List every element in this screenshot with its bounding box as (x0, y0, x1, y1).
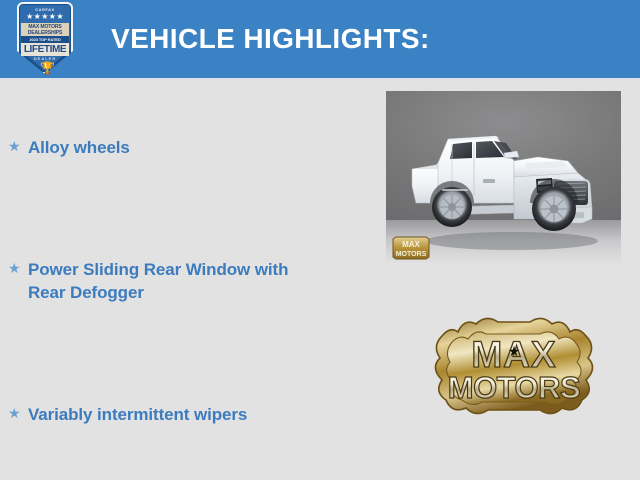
svg-text:MAX: MAX (402, 240, 420, 249)
highlight-label: Power Sliding Rear Window with Rear Defo… (28, 258, 328, 304)
vehicle-photo: MAX MOTORS White GMC Sierra Denali crew … (386, 91, 621, 266)
dealer-logo-alt: Max Motors belt buckle logo (600, 314, 601, 315)
list-item: ★ Variably intermittent wipers (8, 403, 247, 426)
highlight-label: Alloy wheels (28, 136, 130, 159)
max-motors-buckle-icon: MAX ★ MOTORS (428, 314, 600, 418)
list-item: ★ Alloy wheels (8, 136, 130, 159)
vehicle-highlights-slide: CARFAX ★★★★★ MAX MOTORS DEALERSHIPS 2023… (0, 0, 640, 480)
svg-text:MOTORS: MOTORS (396, 251, 427, 258)
trophy-icon: 🏆 (40, 61, 50, 76)
badge-stars-icon: ★★★★★ (17, 12, 73, 21)
star-bullet-icon: ★ (8, 136, 28, 157)
dealer-logo: MAX ★ MOTORS Max Motors belt buckle logo (428, 314, 600, 418)
page-title: VEHICLE HIGHLIGHTS: (111, 22, 430, 56)
carfax-lifetime-dealer-badge: CARFAX ★★★★★ MAX MOTORS DEALERSHIPS 2023… (17, 2, 73, 80)
list-item: ★ Power Sliding Rear Window with Rear De… (8, 258, 328, 304)
badge-lifetime-label: LIFETIME (21, 43, 69, 56)
logo-line-motors: MOTORS (448, 370, 581, 405)
photo-watermark-logo: MAX MOTORS (390, 235, 432, 261)
star-bullet-icon: ★ (8, 403, 28, 424)
badge-top-rated-label: 2023 TOP RATED (21, 36, 69, 43)
badge-dealership-label: MAX MOTORS DEALERSHIPS (21, 23, 69, 36)
highlight-label: Variably intermittent wipers (28, 403, 247, 426)
star-bullet-icon: ★ (8, 258, 28, 279)
header-underline (0, 78, 640, 81)
logo-star-icon: ★ (508, 343, 521, 359)
vehicle-highlights-list: ★ Alloy wheels ★ Power Sliding Rear Wind… (0, 88, 360, 468)
